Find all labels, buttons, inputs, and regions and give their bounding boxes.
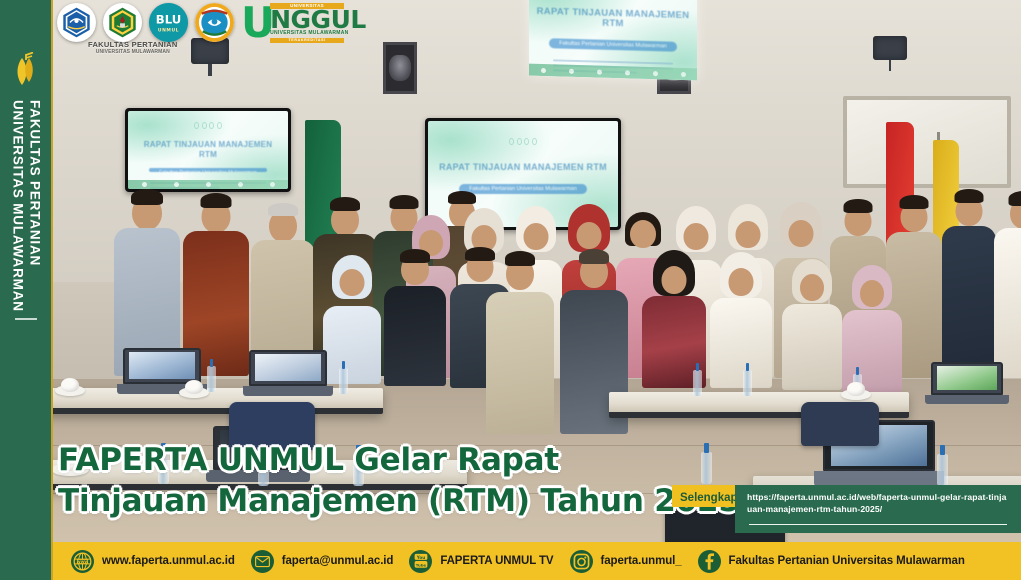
social-media-poster: RAPAT TINJAUAN MANAJEMEN RTM Fakultas Pe… xyxy=(0,0,1021,580)
svg-text:UNMUL: UNMUL xyxy=(158,27,179,33)
footer-item-email[interactable]: faperta@unmul.ac.id xyxy=(251,550,394,573)
universitas-mulawarman-logo xyxy=(103,3,142,42)
envelope-email-icon xyxy=(251,550,274,573)
logo-row: BLU UNMUL U UNIVERSITAS NGGUL UNIVERSIT xyxy=(57,3,349,43)
footer-item-website[interactable]: WWW www.faperta.unmul.ac.id xyxy=(71,550,235,573)
wall-speaker xyxy=(873,36,907,60)
chair xyxy=(801,402,879,446)
footer-label-youtube: FAPERTA UNMUL TV xyxy=(440,555,553,567)
sidebar-title-line2: UNIVERSITAS MULAWARMAN xyxy=(9,100,26,310)
laptop xyxy=(931,362,1003,404)
youtube-icon: You Tube xyxy=(409,550,432,573)
water-bottle xyxy=(339,368,348,394)
person-front-row xyxy=(383,254,447,386)
svg-text:WWW: WWW xyxy=(77,559,89,563)
footer-left-block xyxy=(0,542,53,580)
unggul-unmul-logo: U UNIVERSITAS NGGUL UNIVERSITAS MULAWARM… xyxy=(241,3,349,43)
svg-text:Tube: Tube xyxy=(416,562,427,567)
projector-slide-title: RAPAT TINJAUAN MANAJEMEN RTM xyxy=(529,6,697,33)
person-front-row xyxy=(841,272,903,392)
footer-item-youtube[interactable]: You Tube FAPERTA UNMUL TV xyxy=(409,550,553,573)
unggul-u-letter: U xyxy=(241,6,273,40)
headline-line-2: Tinjauan Manajemen (RTM) Tahun 2025 xyxy=(58,481,740,522)
unggul-wordmark: NGGUL xyxy=(270,9,366,31)
faculty-caption: FAKULTAS PERTANIAN UNIVERSITAS MULAWARMA… xyxy=(88,41,178,55)
tv-center-slide-pill: Fakultas Pertanian Universitas Mulawarma… xyxy=(459,184,587,194)
footer-label-facebook: Fakultas Pertanian Universitas Mulawarma… xyxy=(729,555,965,567)
footer-label-website: www.faperta.unmul.ac.id xyxy=(102,555,235,567)
footer-item-facebook[interactable]: Fakultas Pertanian Universitas Mulawarma… xyxy=(698,550,965,573)
water-bottle xyxy=(693,370,702,396)
unggul-accreditation-ribbon: TERAKREDITASI xyxy=(270,38,344,44)
wall-portrait-frame xyxy=(383,42,417,94)
person-front-row xyxy=(781,266,843,390)
person-front-row-seated xyxy=(485,258,555,434)
svg-text:BLU: BLU xyxy=(156,12,181,26)
tv-center-slide-title: RAPAT TINJAUAN MANAJEMEN RTM xyxy=(432,162,615,172)
tv-left-slide-pill: Fakultas Pertanian Universitas Mulawarma… xyxy=(149,168,267,172)
read-more-bar: https://faperta.unmul.ac.id/web/faperta-… xyxy=(672,485,1021,533)
footer-label-email: faperta@unmul.ac.id xyxy=(282,555,394,567)
headline-line-1: FAPERTA UNMUL Gelar Rapat xyxy=(58,440,740,481)
person-front-row xyxy=(709,260,773,388)
page-title: FAPERTA UNMUL Gelar Rapat Tinjauan Manaj… xyxy=(58,440,740,522)
slide-logo-dots xyxy=(194,122,222,129)
faculty-caption-line2: UNIVERSITAS MULAWARMAN xyxy=(88,50,178,55)
sidebar: FAKULTAS PERTANIAN UNIVERSITAS MULAWARMA… xyxy=(0,0,53,542)
projector-screen: RAPAT TINJAUAN MANAJEMEN RTM Fakultas Pe… xyxy=(529,0,697,80)
footer-contact-list: WWW www.faperta.unmul.ac.id faperta@unmu… xyxy=(53,550,1021,573)
conference-table xyxy=(53,388,383,414)
rice-grain-leaf-icon xyxy=(13,52,39,91)
water-bottle xyxy=(207,366,216,392)
water-bottle xyxy=(937,454,948,486)
sidebar-divider xyxy=(15,318,37,320)
instagram-icon xyxy=(570,550,593,573)
sidebar-title-line1: FAKULTAS PERTANIAN xyxy=(26,100,43,310)
footer-label-instagram: faperta.unmul_ xyxy=(601,555,682,567)
person-middle-row xyxy=(993,198,1021,378)
facebook-icon xyxy=(698,550,721,573)
coffee-cup xyxy=(61,378,79,392)
coffee-cup xyxy=(185,380,203,394)
kemendikbud-tut-wuri-handayani-logo xyxy=(57,3,96,42)
blu-logo: BLU UNMUL xyxy=(149,3,188,42)
oktinasitas-bersampah-logo xyxy=(195,3,234,42)
coffee-cup xyxy=(847,382,865,396)
sidebar-vertical-title: FAKULTAS PERTANIAN UNIVERSITAS MULAWARMA… xyxy=(9,100,43,310)
person-middle-row xyxy=(941,196,997,378)
article-url-box: https://faperta.unmul.ac.id/web/faperta-… xyxy=(735,485,1021,533)
faculty-caption-line1: FAKULTAS PERTANIAN xyxy=(88,41,178,49)
whiteboard xyxy=(843,96,1011,188)
tv-left-slide-title: RAPAT TINJAUAN MANAJEMEN RTM xyxy=(128,140,288,158)
projector-slide-pill: Fakultas Pertanian Universitas Mulawarma… xyxy=(549,39,677,53)
slide-footer-bar xyxy=(128,180,288,189)
wall-tv-left: RAPAT TINJAUAN MANAJEMEN RTM Fakultas Pe… xyxy=(125,108,291,192)
article-url[interactable]: https://faperta.unmul.ac.id/web/faperta-… xyxy=(747,491,1011,516)
person-front-row xyxy=(321,262,383,384)
url-underline xyxy=(749,524,1007,526)
globe-www-icon: WWW xyxy=(71,550,94,573)
water-bottle xyxy=(743,370,752,396)
footer-item-instagram[interactable]: faperta.unmul_ xyxy=(570,550,682,573)
laptop xyxy=(249,350,327,396)
svg-text:You: You xyxy=(416,555,426,560)
slide-logo-dots xyxy=(509,138,537,145)
footer-bar: WWW www.faperta.unmul.ac.id faperta@unmu… xyxy=(0,542,1021,580)
